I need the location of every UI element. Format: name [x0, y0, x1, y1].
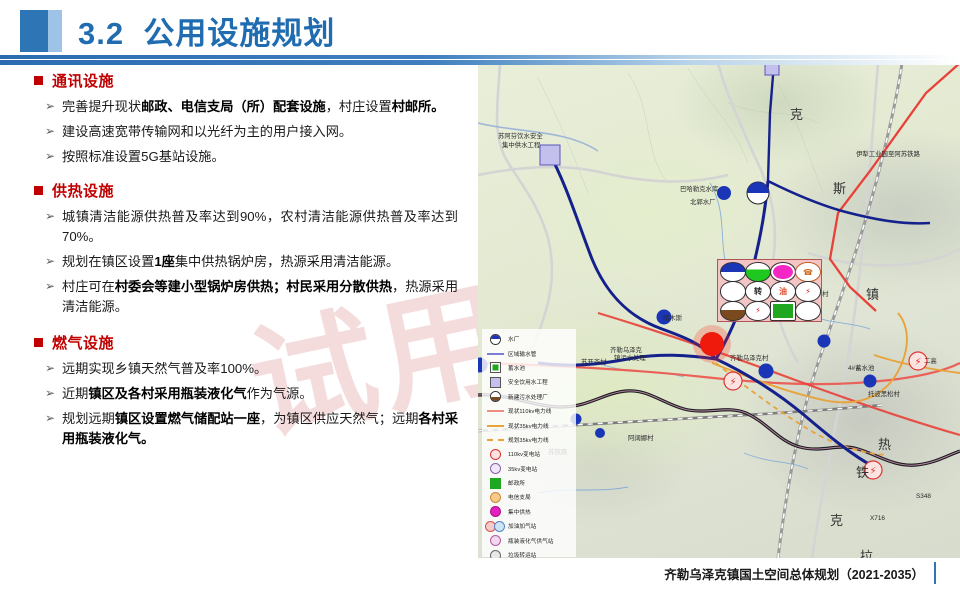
arrow-bullet-icon: ➢ — [45, 384, 55, 402]
list-item-text: 城镇清洁能源供热普及率达到90%，农村清洁能源供热普及率达到70%。 — [62, 209, 458, 244]
circle-brown-white — [485, 391, 505, 403]
legend-row: 瓶装液化气供气站 — [485, 533, 576, 547]
lpg-icon — [485, 535, 505, 547]
square-bullet-icon — [34, 76, 43, 85]
list-item-text: 规划远期镇区设置燃气储配站一座，为镇区供应天然气；远期各村采用瓶装液化气。 — [62, 411, 458, 446]
slide-footer: 齐勒乌泽克镇国土空间总体规划（2021-2035） — [664, 562, 936, 584]
legend-label: 集中供热 — [505, 508, 531, 516]
section-title: 供热设施 — [52, 180, 114, 201]
legend-row: 新建污水处理厂 — [485, 390, 576, 404]
map-label: 集中供水工程 — [502, 142, 540, 150]
legend-row: 区域输水管 — [485, 346, 576, 360]
arrow-bullet-icon: ➢ — [45, 147, 55, 165]
list-item: ➢按照标准设置5G基站设施。 — [62, 147, 458, 167]
square-bullet-icon — [34, 186, 43, 195]
section-title: 燃气设施 — [52, 332, 114, 353]
line-salmon — [485, 405, 505, 417]
telephone-icon[interactable]: ☎ — [795, 262, 821, 282]
map-label: 苏阿芬饮水安全 — [498, 133, 543, 141]
square-green — [485, 362, 505, 374]
arrow-bullet-icon: ➢ — [45, 97, 55, 115]
map-label: 4#蓄水池 — [848, 365, 874, 373]
substation-icon[interactable]: ⚡ — [745, 301, 771, 321]
section-heating: 供热设施 ➢城镇清洁能源供热普及率达到90%，农村清洁能源供热普及率达到70%。… — [0, 180, 472, 316]
list-item-text: 村庄可在村委会等建小型锅炉房供热；村民采用分散供热，热源采用清洁能源。 — [62, 279, 458, 314]
list-item-text: 建设高速宽带传输网和以光纤为主的用户接入网。 — [62, 124, 352, 139]
list-item: ➢近期镇区及各村采用瓶装液化气作为气源。 — [62, 384, 458, 404]
legend-label: 瓶装液化气供气站 — [505, 537, 554, 545]
water-plant-symbol — [747, 182, 769, 204]
list-item: ➢完善提升现状邮政、电信支局（所）配套设施，村庄设置村邮所。 — [62, 97, 458, 117]
legend-row: 垃圾转运站 — [485, 548, 576, 558]
legend-label: 规划35kv电力线 — [505, 436, 549, 444]
list-item: ➢远期实现乡镇天然气普及率100%。 — [62, 359, 458, 379]
map-region-label: 镇 — [866, 287, 879, 303]
map-label: 齐勒乌泽克 — [610, 347, 642, 355]
map-label: 巴哈勒克水库 — [680, 186, 718, 194]
legend-row: 现状110kv电力线 — [485, 404, 576, 418]
reservoir-icon[interactable] — [770, 301, 796, 321]
legend-label: 35kv变电站 — [505, 465, 537, 473]
legend-row: 蓄水池 — [485, 361, 576, 375]
list-item: ➢城镇清洁能源供热普及率达到90%，农村清洁能源供热普及率达到70%。 — [62, 207, 458, 247]
legend-row: 现状35kv电力线 — [485, 418, 576, 432]
map-label: 喀木斯 — [663, 315, 682, 323]
legend-label: 区域输水管 — [505, 350, 536, 358]
header-accent-block-dark — [20, 10, 48, 52]
sewage-icon[interactable] — [720, 301, 746, 321]
map-label: 托波黑松村 — [868, 391, 900, 399]
arrow-bullet-icon: ➢ — [45, 207, 55, 225]
legend-label: 现状35kv电力线 — [505, 422, 549, 430]
square-bullet-icon — [34, 338, 43, 347]
fuel-gas-icon — [485, 520, 505, 532]
map-region-label: 克 — [830, 513, 843, 529]
map-label: S348 — [916, 493, 931, 501]
list-item: ➢建设高速宽带传输网和以光纤为主的用户接入网。 — [62, 122, 458, 142]
section-gas: 燃气设施 ➢远期实现乡镇天然气普及率100%。 ➢近期镇区及各村采用瓶装液化气作… — [0, 332, 472, 448]
line-dashed-orange — [485, 434, 505, 446]
page-title-text: 公用设施规划 — [143, 16, 335, 51]
header-rule-bottom — [0, 60, 960, 65]
lpg-icon[interactable] — [720, 281, 746, 301]
map-label: 阿阔娜村 — [628, 435, 654, 443]
list-item: ➢村庄可在村委会等建小型锅炉房供热；村民采用分散供热，热源采用清洁能源。 — [62, 277, 458, 317]
svg-text:⚡: ⚡ — [869, 466, 876, 477]
legend-row: 加油加气站 — [485, 519, 576, 533]
map-label: 二高 — [924, 358, 937, 366]
legend-label: 垃圾转运站 — [505, 551, 536, 558]
legend-row: 集中供热 — [485, 505, 576, 519]
map-region-label: 拉 — [860, 549, 873, 558]
square-lavender — [485, 376, 505, 388]
map-region-label: 斯 — [833, 181, 846, 197]
arrow-bullet-icon: ➢ — [45, 409, 55, 427]
drinking-water-project-symbol — [540, 145, 560, 165]
list-item-text: 完善提升现状邮政、电信支局（所）配套设施，村庄设置村邮所。 — [62, 99, 444, 114]
slide-header: 3.2 公用设施规划 — [0, 0, 960, 62]
section-title: 通讯设施 — [52, 70, 114, 91]
bullet-list-heating: ➢城镇清洁能源供热普及率达到90%，农村清洁能源供热普及率达到70%。 ➢规划在… — [0, 207, 472, 316]
legend-label: 110kv变电站 — [505, 450, 540, 458]
map-label: 北郭水厂 — [690, 199, 716, 207]
list-item-text: 按照标准设置5G基站设施。 — [62, 149, 225, 164]
planning-map[interactable]: ⚡ ⚡ ⚡ 苏阿芬饮水安全集中供水工程巴哈勒克水库北郭水厂阿克齐村喀木斯齐勒乌泽… — [478, 63, 960, 558]
drain-icon[interactable] — [795, 301, 821, 321]
legend-row: 110kv变电站 — [485, 447, 576, 461]
legend-row: 电信支局 — [485, 490, 576, 504]
facility-icon-cluster[interactable]: ☎转油⚡⚡ — [717, 259, 822, 322]
legend-label: 加油加气站 — [505, 522, 536, 530]
water-plant-icon[interactable] — [720, 262, 746, 282]
section-heading: 燃气设施 — [34, 332, 472, 353]
highlight-node — [700, 332, 724, 356]
arrow-bullet-icon: ➢ — [45, 277, 55, 295]
list-item-text: 远期实现乡镇天然气普及率100%。 — [62, 361, 267, 376]
waste-transfer-icon — [485, 549, 505, 558]
heating-icon — [485, 506, 505, 518]
legend-label: 安全饮用水工程 — [505, 378, 548, 386]
legend-row: 安全饮用水工程 — [485, 375, 576, 389]
svg-text:⚡: ⚡ — [729, 377, 736, 388]
heating-icon[interactable] — [770, 262, 796, 282]
arrow-bullet-icon: ➢ — [45, 122, 55, 140]
footer-accent-bar — [934, 562, 936, 584]
header-rule-top — [0, 55, 960, 59]
legend-row: 水厂 — [485, 332, 576, 346]
legend-row: 规划35kv电力线 — [485, 433, 576, 447]
map-region-label: 克 — [790, 107, 803, 123]
postal-icon — [485, 477, 505, 489]
svg-text:⚡: ⚡ — [914, 357, 921, 368]
legend-label: 新建污水处理厂 — [505, 393, 548, 401]
map-region-label: 热 — [878, 437, 891, 453]
bullet-list-gas: ➢远期实现乡镇天然气普及率100%。 ➢近期镇区及各村采用瓶装液化气作为气源。 … — [0, 359, 472, 448]
legend-row: 35kv变电站 — [485, 462, 576, 476]
telecom-icon — [485, 491, 505, 503]
postal-icon[interactable] — [745, 262, 771, 282]
legend-label: 水厂 — [505, 335, 519, 343]
map-label: 苏开齐村 — [581, 359, 607, 367]
map-region-label: 铁 — [856, 465, 869, 481]
list-item-text: 近期镇区及各村采用瓶装液化气作为气源。 — [62, 386, 313, 401]
section-heading: 供热设施 — [34, 180, 472, 201]
map-label: 镇污水处理 — [614, 355, 646, 363]
transfer-icon[interactable]: 转 — [745, 281, 771, 301]
bullet-list-communication: ➢完善提升现状邮政、电信支局（所）配套设施，村庄设置村邮所。 ➢建设高速宽带传输… — [0, 97, 472, 166]
power-icon[interactable]: ⚡ — [795, 281, 821, 301]
map-label: X716 — [870, 515, 885, 523]
legend-label: 电信支局 — [505, 493, 531, 501]
water-main-pipe — [548, 151, 716, 359]
list-item-text: 规划在镇区设置1座集中供热锅炉房，热源采用清洁能源。 — [62, 254, 399, 269]
substation-110 — [485, 448, 505, 460]
section-heading: 通讯设施 — [34, 70, 472, 91]
map-label: 伊犁工业园至阿苏铁路 — [856, 151, 920, 159]
circle-blue-white — [485, 333, 505, 345]
list-item: ➢规划在镇区设置1座集中供热锅炉房，热源采用清洁能源。 — [62, 252, 458, 272]
line-orange — [485, 420, 505, 432]
fuel-icon[interactable]: 油 — [770, 281, 796, 301]
legend-label: 蓄水池 — [505, 364, 525, 372]
content-body: 通讯设施 ➢完善提升现状邮政、电信支局（所）配套设施，村庄设置村邮所。 ➢建设高… — [0, 66, 472, 566]
legend-row: 邮政所 — [485, 476, 576, 490]
substation-35 — [485, 463, 505, 475]
list-item: ➢规划远期镇区设置燃气储配站一座，为镇区供应天然气；远期各村采用瓶装液化气。 — [62, 409, 458, 449]
legend-label: 现状110kv电力线 — [505, 407, 551, 415]
arrow-bullet-icon: ➢ — [45, 359, 55, 377]
header-accent-block-light — [48, 10, 62, 52]
arrow-bullet-icon: ➢ — [45, 252, 55, 270]
footer-title: 齐勒乌泽克镇国土空间总体规划（2021-2035） — [664, 564, 924, 583]
page-title: 3.2 公用设施规划 — [78, 8, 335, 53]
page-title-number: 3.2 — [78, 16, 124, 51]
map-legend: 水厂区域输水管蓄水池安全饮用水工程新建污水处理厂现状110kv电力线现状35kv… — [482, 329, 576, 557]
section-communication: 通讯设施 ➢完善提升现状邮政、电信支局（所）配套设施，村庄设置村邮所。 ➢建设高… — [0, 70, 472, 166]
line-purple — [485, 348, 505, 360]
legend-label: 邮政所 — [505, 479, 525, 487]
map-label: 齐勒乌泽克村 — [730, 355, 768, 363]
